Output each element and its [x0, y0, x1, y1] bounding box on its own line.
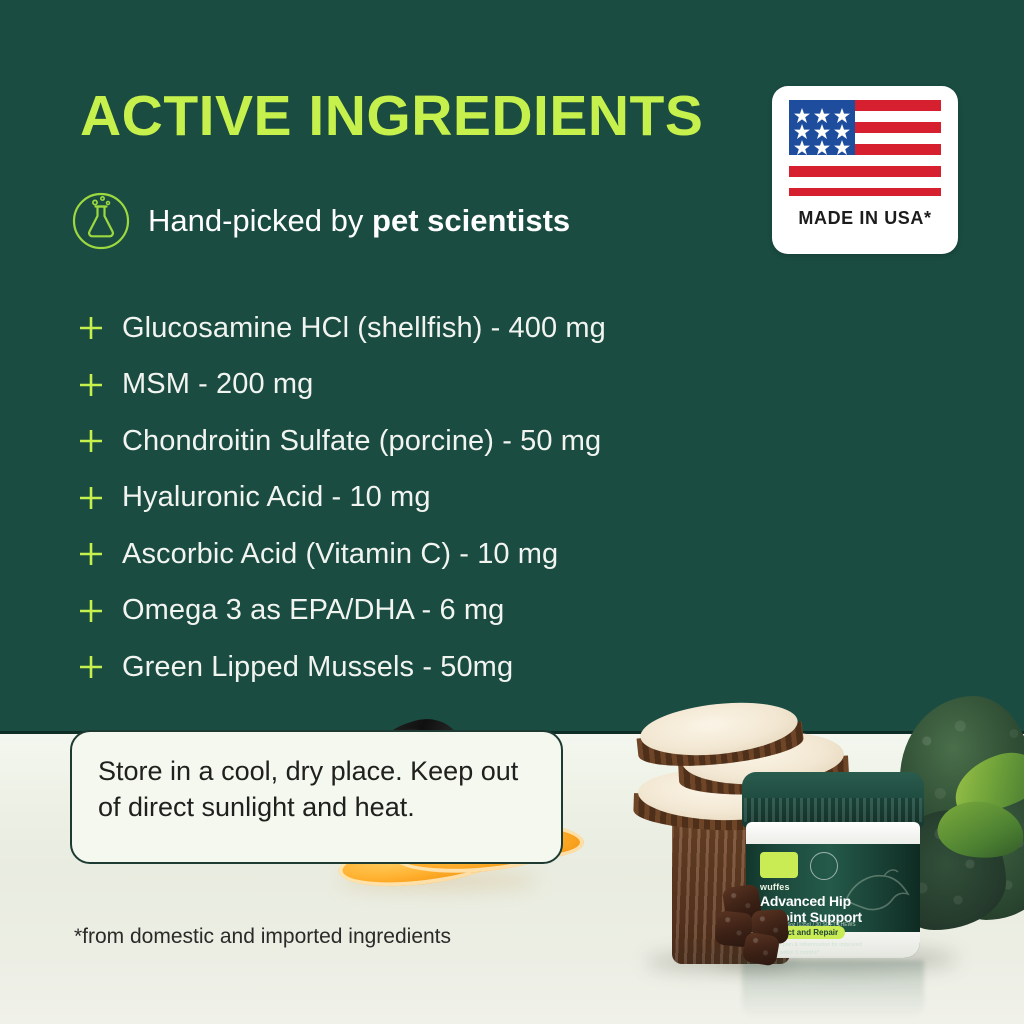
plus-icon	[74, 598, 108, 624]
jar-label-top-band	[746, 822, 920, 844]
jar-seal-icon	[810, 852, 838, 880]
subtitle-row: Hand-picked by pet scientists	[72, 192, 570, 250]
list-item: MSM - 200 mg	[74, 357, 606, 414]
made-in-usa-badge: MADE IN USA*	[772, 86, 958, 254]
list-item: Chondroitin Sulfate (porcine) - 50 mg	[74, 413, 606, 470]
plus-icon	[74, 372, 108, 398]
ingredient-text: Glucosamine HCl (shellfish) - 400 mg	[122, 312, 606, 345]
jar-title-line-1: Advanced Hip	[760, 893, 851, 909]
page-title: ACTIVE INGREDIENTS	[80, 88, 703, 145]
made-in-usa-label: MADE IN USA*	[798, 208, 931, 229]
ingredient-list: Glucosamine HCl (shellfish) - 400 mg MSM…	[74, 300, 606, 696]
plus-icon	[74, 485, 108, 511]
storage-note-card: Store in a cool, dry place. Keep out of …	[70, 730, 563, 864]
list-item: Ascorbic Acid (Vitamin C) - 10 mg	[74, 526, 606, 583]
ingredient-text: MSM - 200 mg	[122, 368, 313, 401]
plus-icon	[74, 315, 108, 341]
list-item: Glucosamine HCl (shellfish) - 400 mg	[74, 300, 606, 357]
storage-note-text: Store in a cool, dry place. Keep out of …	[98, 754, 535, 826]
subtitle-bold: pet scientists	[372, 203, 570, 238]
plus-icon	[74, 428, 108, 454]
list-item: Omega 3 as EPA/DHA - 6 mg	[74, 583, 606, 640]
ingredient-text: Ascorbic Acid (Vitamin C) - 10 mg	[122, 538, 558, 571]
jar-lid	[742, 772, 924, 828]
jar-certification-badge	[760, 852, 798, 878]
subtitle-regular: Hand-picked by	[148, 203, 372, 238]
jar-reflection	[742, 960, 924, 1018]
ingredient-text: Hyaluronic Acid - 10 mg	[122, 481, 431, 514]
wood-slice	[638, 696, 800, 762]
jar-brand-name: wuffes	[760, 882, 790, 892]
subtitle-text: Hand-picked by pet scientists	[148, 203, 570, 239]
chew-treat	[742, 931, 781, 966]
list-item: Hyaluronic Acid - 10 mg	[74, 470, 606, 527]
infographic-page: ACTIVE INGREDIENTS Hand-picked by pet sc…	[0, 0, 1024, 1024]
usa-flag-icon	[789, 100, 941, 196]
flask-icon	[72, 192, 130, 250]
ingredient-text: Chondroitin Sulfate (porcine) - 50 mg	[122, 425, 601, 458]
plus-icon	[74, 541, 108, 567]
footnote-text: *from domestic and imported ingredients	[74, 925, 451, 949]
ingredient-text: Omega 3 as EPA/DHA - 6 mg	[122, 594, 504, 627]
